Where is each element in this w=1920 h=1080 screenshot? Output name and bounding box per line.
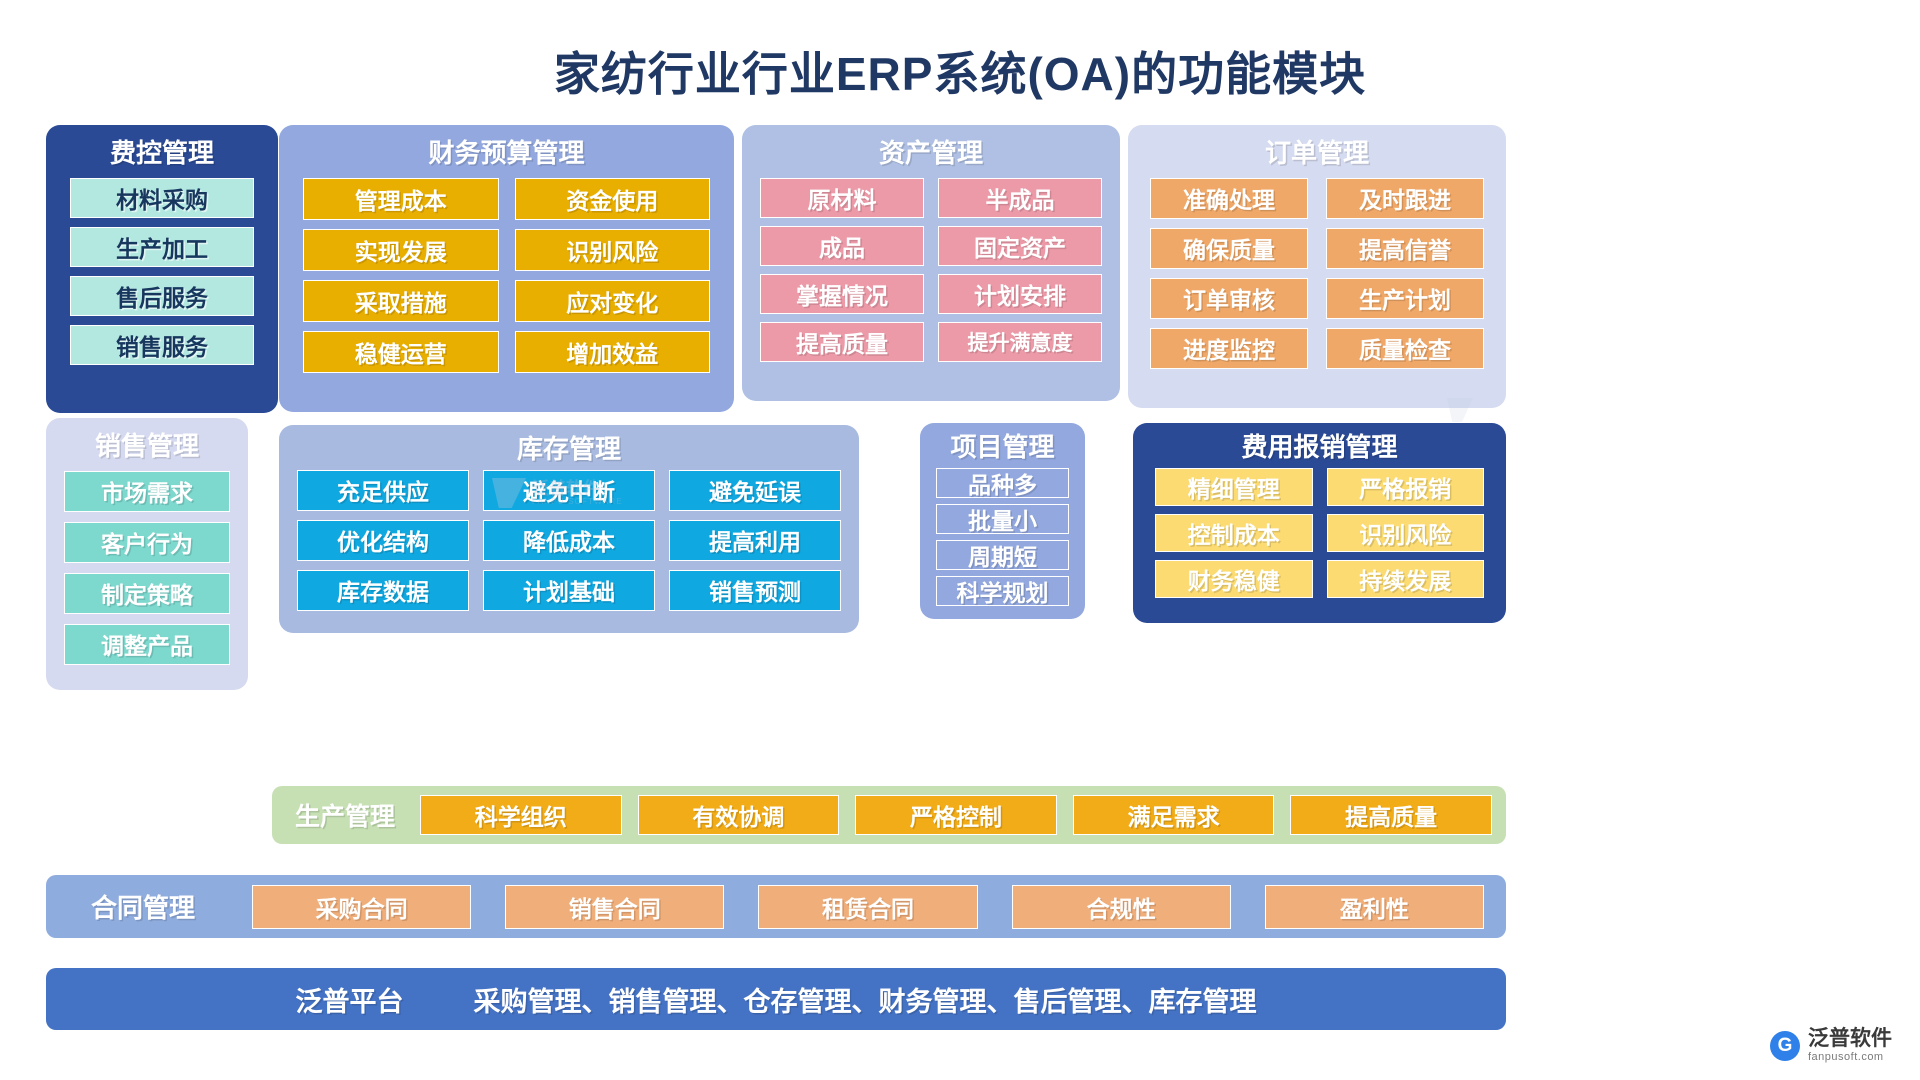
chip-finance-7[interactable]: 增加效益: [515, 331, 711, 373]
chip-cost-control-1[interactable]: 生产加工: [70, 227, 254, 267]
infographic-canvas: 家纺行业行业ERP系统(OA)的功能模块 费控管理 材料采购 生产加工 售后服务…: [0, 0, 1920, 1080]
panel-project: 项目管理 品种多 批量小 周期短 科学规划: [920, 423, 1085, 619]
panel-title-order: 订单管理: [1128, 125, 1506, 178]
panel-expense: 费用报销管理 精细管理 严格报销 控制成本 识别风险 财务稳健 持续发展: [1133, 423, 1506, 623]
chip-contract-3[interactable]: 合规性: [1012, 885, 1231, 929]
chip-expense-2[interactable]: 控制成本: [1155, 514, 1313, 552]
chip-asset-6[interactable]: 提高质量: [760, 322, 924, 362]
chip-inventory-1[interactable]: 避免中断: [483, 470, 655, 511]
chip-asset-3[interactable]: 固定资产: [938, 226, 1102, 266]
chip-sales-3[interactable]: 调整产品: [64, 624, 230, 665]
panel-title-inventory: 库存管理: [279, 425, 859, 470]
chip-expense-3[interactable]: 识别风险: [1327, 514, 1485, 552]
chip-asset-1[interactable]: 半成品: [938, 178, 1102, 218]
chip-asset-5[interactable]: 计划安排: [938, 274, 1102, 314]
chip-asset-2[interactable]: 成品: [760, 226, 924, 266]
chip-order-4[interactable]: 订单审核: [1150, 278, 1308, 319]
chip-inventory-5[interactable]: 提高利用: [669, 520, 841, 561]
chip-finance-2[interactable]: 实现发展: [303, 229, 499, 271]
panel-sales: 销售管理 市场需求 客户行为 制定策略 调整产品: [46, 418, 248, 690]
panel-finance-budget: 财务预算管理 管理成本 资金使用 实现发展 识别风险 采取措施 应对变化 稳健运…: [279, 125, 734, 412]
chip-inventory-2[interactable]: 避免延误: [669, 470, 841, 511]
panel-title-sales: 销售管理: [46, 418, 248, 471]
chip-asset-7[interactable]: 提升满意度: [938, 322, 1102, 362]
chip-inventory-3[interactable]: 优化结构: [297, 520, 469, 561]
chip-order-0[interactable]: 准确处理: [1150, 178, 1308, 219]
chip-project-1[interactable]: 批量小: [936, 504, 1069, 534]
brand-url: fanpusoft.com: [1808, 1051, 1892, 1064]
chip-asset-4[interactable]: 掌握情况: [760, 274, 924, 314]
chip-expense-1[interactable]: 严格报销: [1327, 468, 1485, 506]
chip-cost-control-0[interactable]: 材料采购: [70, 178, 254, 218]
platform-modules-text: 采购管理、销售管理、仓存管理、财务管理、售后管理、库存管理: [474, 980, 1257, 1019]
chip-contract-2[interactable]: 租赁合同: [758, 885, 977, 929]
panel-cost-control: 费控管理 材料采购 生产加工 售后服务 销售服务: [46, 125, 278, 413]
brand-name: 泛普软件: [1808, 1027, 1892, 1051]
chip-expense-4[interactable]: 财务稳健: [1155, 560, 1313, 598]
panel-title-expense: 费用报销管理: [1133, 423, 1506, 468]
chip-order-2[interactable]: 确保质量: [1150, 228, 1308, 269]
chip-inventory-7[interactable]: 计划基础: [483, 570, 655, 611]
chip-project-2[interactable]: 周期短: [936, 540, 1069, 570]
chip-production-1[interactable]: 有效协调: [638, 795, 840, 835]
brand-badge-icon: G: [1770, 1031, 1800, 1061]
chip-order-1[interactable]: 及时跟进: [1326, 178, 1484, 219]
chip-asset-0[interactable]: 原材料: [760, 178, 924, 218]
chip-contract-0[interactable]: 采购合同: [252, 885, 471, 929]
chip-expense-0[interactable]: 精细管理: [1155, 468, 1313, 506]
brand-logo: G 泛普软件 fanpusoft.com: [1770, 1027, 1892, 1064]
chip-finance-6[interactable]: 稳健运营: [303, 331, 499, 373]
panel-title-finance-budget: 财务预算管理: [279, 125, 734, 178]
chip-order-6[interactable]: 进度监控: [1150, 328, 1308, 369]
panel-contract: 合同管理 采购合同 销售合同 租赁合同 合规性 盈利性: [46, 875, 1506, 938]
chip-finance-1[interactable]: 资金使用: [515, 178, 711, 220]
chip-production-2[interactable]: 严格控制: [855, 795, 1057, 835]
chip-inventory-8[interactable]: 销售预测: [669, 570, 841, 611]
panel-title-asset: 资产管理: [742, 125, 1120, 178]
panel-platform: 泛普平台 采购管理、销售管理、仓存管理、财务管理、售后管理、库存管理: [46, 968, 1506, 1030]
chip-production-3[interactable]: 满足需求: [1073, 795, 1275, 835]
chip-order-7[interactable]: 质量检查: [1326, 328, 1484, 369]
panel-production: 生产管理 科学组织 有效协调 严格控制 满足需求 提高质量: [272, 786, 1506, 844]
panel-title-contract: 合同管理: [68, 888, 218, 925]
chip-inventory-4[interactable]: 降低成本: [483, 520, 655, 561]
chip-cost-control-2[interactable]: 售后服务: [70, 276, 254, 316]
chip-finance-5[interactable]: 应对变化: [515, 280, 711, 322]
panel-title-cost-control: 费控管理: [46, 125, 278, 178]
panel-order: 订单管理 准确处理 及时跟进 确保质量 提高信誉 订单审核 生产计划 进度监控 …: [1128, 125, 1506, 408]
chip-order-5[interactable]: 生产计划: [1326, 278, 1484, 319]
chip-contract-1[interactable]: 销售合同: [505, 885, 724, 929]
panel-inventory: 库存管理 充足供应 避免中断 避免延误 优化结构 降低成本 提高利用 库存数据 …: [279, 425, 859, 633]
chip-sales-1[interactable]: 客户行为: [64, 522, 230, 563]
chip-finance-0[interactable]: 管理成本: [303, 178, 499, 220]
chip-finance-3[interactable]: 识别风险: [515, 229, 711, 271]
chip-sales-2[interactable]: 制定策略: [64, 573, 230, 614]
chip-production-4[interactable]: 提高质量: [1290, 795, 1492, 835]
panel-title-platform: 泛普平台: [296, 980, 404, 1019]
chip-inventory-6[interactable]: 库存数据: [297, 570, 469, 611]
chip-project-3[interactable]: 科学规划: [936, 576, 1069, 606]
panel-title-production: 生产管理: [286, 797, 404, 833]
chip-finance-4[interactable]: 采取措施: [303, 280, 499, 322]
panel-asset: 资产管理 原材料 半成品 成品 固定资产 掌握情况 计划安排 提高质量 提升满意…: [742, 125, 1120, 401]
chip-sales-0[interactable]: 市场需求: [64, 471, 230, 512]
chip-contract-4[interactable]: 盈利性: [1265, 885, 1484, 929]
panel-title-project: 项目管理: [920, 423, 1085, 468]
chip-expense-5[interactable]: 持续发展: [1327, 560, 1485, 598]
chip-order-3[interactable]: 提高信誉: [1326, 228, 1484, 269]
chip-inventory-0[interactable]: 充足供应: [297, 470, 469, 511]
chip-cost-control-3[interactable]: 销售服务: [70, 325, 254, 365]
page-title: 家纺行业行业ERP系统(OA)的功能模块: [0, 38, 1920, 104]
chip-project-0[interactable]: 品种多: [936, 468, 1069, 498]
chip-production-0[interactable]: 科学组织: [420, 795, 622, 835]
